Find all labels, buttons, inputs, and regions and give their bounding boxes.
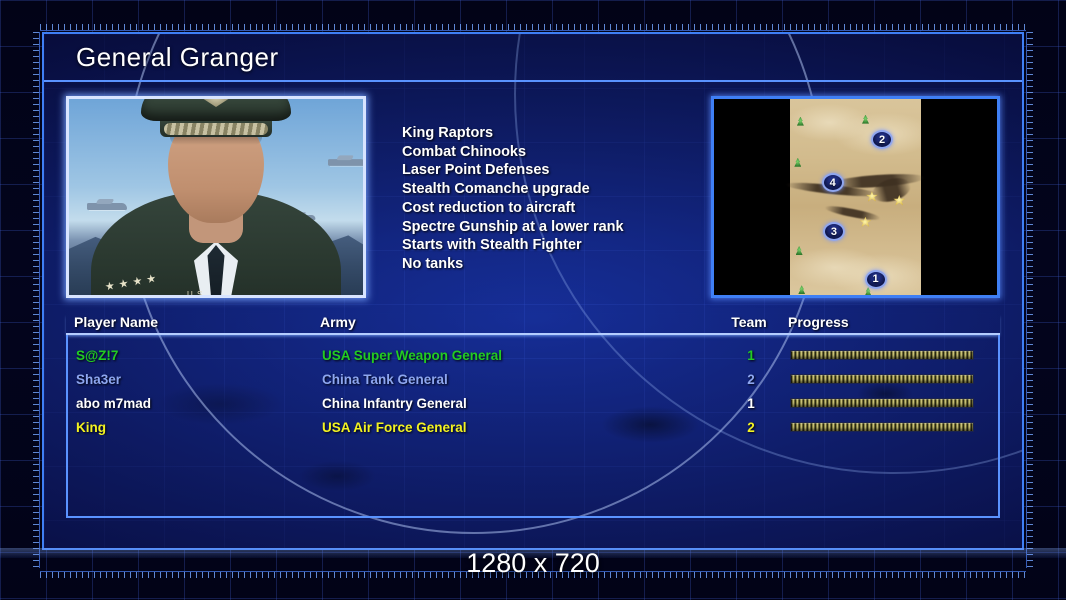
ability-item: Starts with Stealth Fighter (402, 236, 711, 255)
cell-team: 1 (712, 396, 790, 411)
cell-player-name: S@Z!7 (76, 348, 322, 363)
aircraft-icon (328, 159, 366, 166)
cell-army: China Tank General (322, 372, 712, 387)
ability-item: Spectre Gunship at a lower rank (402, 218, 711, 237)
us-insignia-icon: U.S. (187, 290, 207, 298)
pilot-wings-icon (267, 297, 297, 298)
map-tree-icon (798, 285, 805, 294)
table-row[interactable]: abo m7madChina Infantry General1 (76, 391, 990, 415)
cell-progress (790, 398, 980, 408)
map-tree-icon (796, 246, 803, 255)
table-row[interactable]: KingUSA Air Force General2 (76, 415, 990, 439)
page-title: General Granger (76, 42, 279, 73)
general-abilities-list: King Raptors Combat Chinooks Laser Point… (366, 96, 711, 304)
ruler-left-decoration (33, 32, 40, 568)
ability-item: No tanks (402, 255, 711, 274)
ruler-top-decoration (40, 24, 1026, 31)
cell-player-name: abo m7mad (76, 396, 322, 411)
cell-team: 2 (712, 420, 790, 435)
aircraft-icon (87, 203, 127, 210)
progress-bar (790, 398, 974, 408)
progress-bar (790, 422, 974, 432)
map-tree-icon (797, 117, 804, 126)
game-screen: General Granger U.S. (0, 0, 1066, 600)
player-list-header: Player Name Army Team Progress (66, 314, 1000, 335)
cell-army: USA Super Weapon General (322, 348, 712, 363)
cell-team: 1 (712, 348, 790, 363)
cell-progress (790, 374, 980, 384)
player-list: Player Name Army Team Progress S@Z!7USA … (66, 314, 1000, 518)
general-info-window: General Granger U.S. (42, 32, 1024, 550)
cell-player-name: King (76, 420, 322, 435)
column-header-army: Army (320, 314, 710, 330)
general-portrait: U.S. (66, 96, 366, 298)
ruler-right-decoration (1026, 32, 1033, 568)
column-header-player-name: Player Name (74, 314, 320, 330)
ability-item: Cost reduction to aircraft (402, 199, 711, 218)
ability-item: Laser Point Defenses (402, 161, 711, 180)
cell-army: China Infantry General (322, 396, 712, 411)
resolution-label: 1280 x 720 (0, 548, 1066, 579)
cell-army: USA Air Force General (322, 420, 712, 435)
table-row[interactable]: Sha3erChina Tank General2 (76, 367, 990, 391)
map-start-position-1[interactable]: 1 (865, 270, 887, 289)
column-header-progress: Progress (788, 314, 978, 330)
map-river (824, 203, 882, 222)
ability-item: Combat Chinooks (402, 143, 711, 162)
ability-item: Stealth Comanche upgrade (402, 180, 711, 199)
cell-progress (790, 422, 980, 432)
cell-player-name: Sha3er (76, 372, 322, 387)
map-preview[interactable]: 2431 (711, 96, 1000, 298)
progress-bar (790, 374, 974, 384)
ability-item: King Raptors (402, 124, 711, 143)
map-terrain: 2431 (790, 99, 920, 295)
cell-progress (790, 350, 980, 360)
progress-bar (790, 350, 974, 360)
map-tree-icon (794, 158, 801, 167)
table-row[interactable]: S@Z!7USA Super Weapon General1 (76, 343, 990, 367)
cell-team: 2 (712, 372, 790, 387)
player-list-body: S@Z!7USA Super Weapon General1Sha3erChin… (66, 335, 1000, 518)
map-start-position-3[interactable]: 3 (823, 222, 845, 241)
abilities-items: King Raptors Combat Chinooks Laser Point… (402, 124, 711, 274)
map-tree-icon (865, 287, 872, 296)
map-start-position-2[interactable]: 2 (871, 130, 893, 149)
window-titlebar: General Granger (44, 34, 1022, 82)
general-overview-area: U.S. King Raptors Combat Chinooks Laser … (66, 96, 1000, 304)
column-header-team: Team (710, 314, 788, 330)
portrait-cap-scrambled-eggs (164, 123, 268, 135)
map-tree-icon (862, 115, 869, 124)
rank-stars-icon (105, 274, 157, 292)
